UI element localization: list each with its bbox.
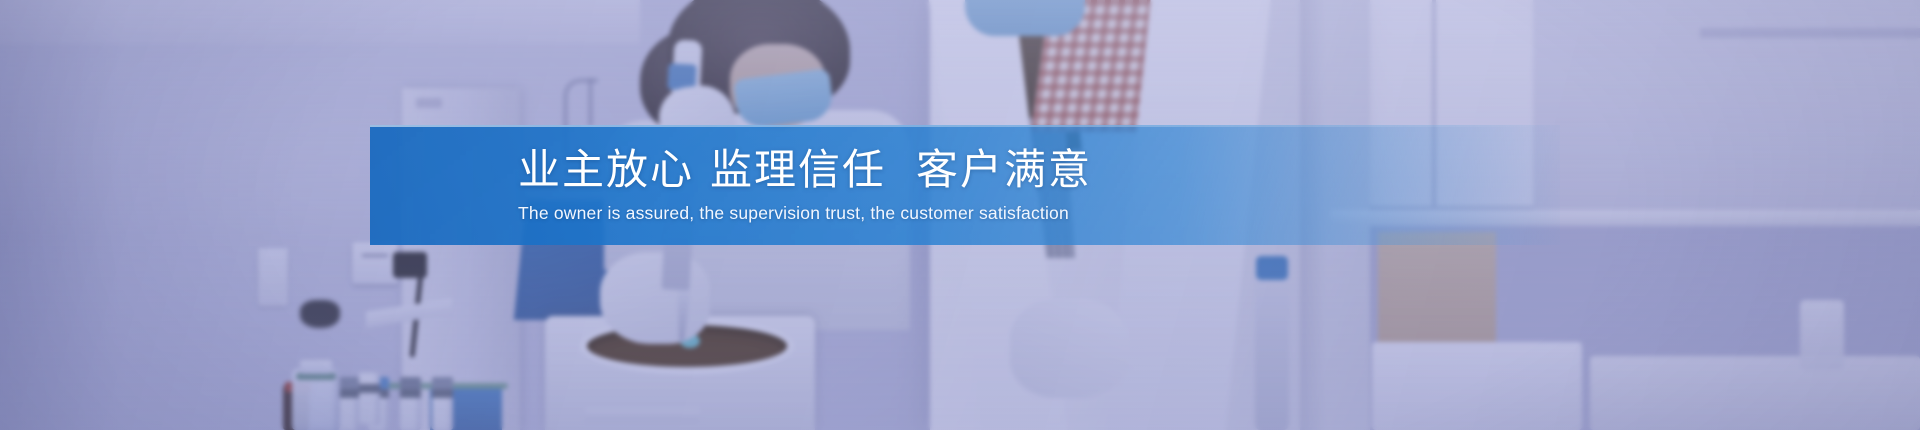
hero-banner: 业主放心监理信任客户满意 The owner is assured, the s… [0,0,1920,430]
slogan-headline-part3: 客户满意 [916,146,1092,193]
slogan-headline-part2: 监理信任 [710,146,886,193]
slogan-band: 业主放心监理信任客户满意 The owner is assured, the s… [370,125,1560,245]
slogan-subline: The owner is assured, the supervision tr… [518,203,1560,224]
slogan-headline: 业主放心监理信任客户满意 [518,146,1560,193]
slogan-headline-part1: 业主放心 [518,146,694,193]
slogan-band-content: 业主放心监理信任客户满意 The owner is assured, the s… [370,125,1560,245]
